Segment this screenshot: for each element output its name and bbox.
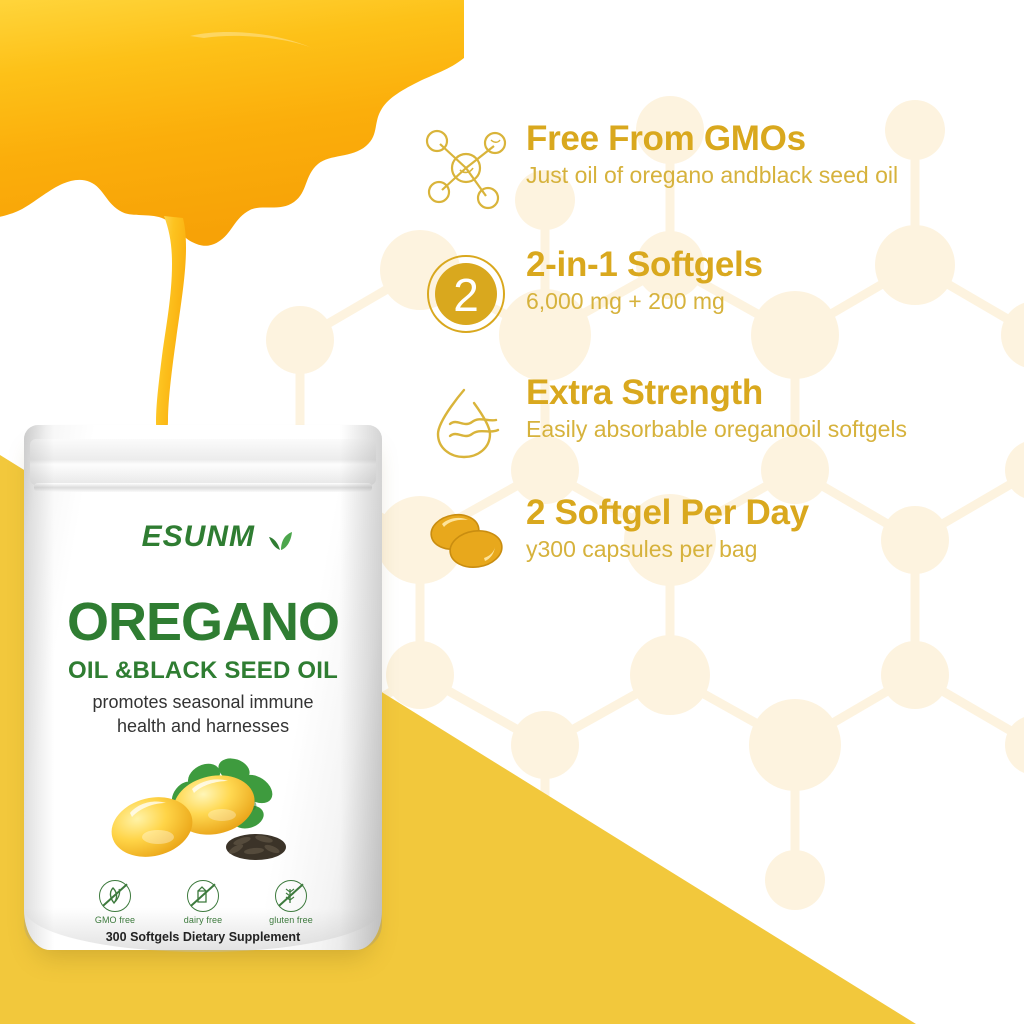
feature-heading: Extra Strength	[526, 374, 1018, 412]
badge-label: GMO free	[84, 915, 146, 925]
number-two-circle-icon: 2	[424, 252, 508, 336]
wheat-no-icon	[275, 880, 307, 912]
description-line-2: health and harnesses	[24, 715, 382, 739]
feature-text: Extra Strength Easily absorbable oregano…	[526, 374, 1018, 443]
product-footer-text: 300 Softgels Dietary Supplement	[24, 930, 382, 944]
feature-item-2-softgel-per-day: 2 Softgel Per Day y300 capsules per bag	[418, 494, 1018, 612]
molecule-icon	[424, 126, 508, 210]
feature-text: 2-in-1 Softgels 6,000 mg + 200 mg	[526, 246, 1018, 315]
product-subtitle: OIL &BLACK SEED OIL	[24, 657, 382, 685]
product-description: promotes seasonal immune health and harn…	[24, 691, 382, 739]
feature-heading: 2-in-1 Softgels	[526, 246, 1018, 284]
feature-subtext: 6,000 mg + 200 mg	[526, 287, 1018, 315]
feature-item-free-from-gmos: Free From GMOs Just oil of oregano andbl…	[418, 120, 1018, 238]
two-softgels-icon	[424, 500, 508, 584]
brand-name: ESUNM	[142, 520, 255, 553]
pouch-zipper	[34, 483, 372, 492]
feature-heading: 2 Softgel Per Day	[526, 494, 1018, 532]
feature-subtext: y300 capsules per bag	[526, 535, 1018, 563]
badge-label: dairy free	[172, 915, 234, 925]
feature-list: Free From GMOs Just oil of oregano andbl…	[418, 120, 1018, 612]
badge-gmo-free: GMO free	[84, 880, 146, 925]
feature-text: 2 Softgel Per Day y300 capsules per bag	[526, 494, 1018, 563]
feature-subtext: Easily absorbable oreganooil softgels	[526, 415, 1018, 443]
feature-item-2-in-1-softgels: 2 2-in-1 Softgels 6,000 mg + 200 mg	[418, 246, 1018, 364]
pouch-right-shading	[340, 425, 382, 950]
badge-dairy-free: dairy free	[172, 880, 234, 925]
product-ad-canvas: ESUNM OREGANO OIL &BLACK SEED OIL promot…	[0, 0, 1024, 1024]
leaf-no-icon	[99, 880, 131, 912]
pouch-left-shading	[24, 425, 54, 950]
product-pouch: ESUNM OREGANO OIL &BLACK SEED OIL promot…	[24, 425, 382, 950]
milk-carton-no-icon	[187, 880, 219, 912]
feature-item-extra-strength: Extra Strength Easily absorbable oregano…	[418, 374, 1018, 492]
svg-text:2: 2	[453, 269, 479, 321]
badge-label: gluten free	[260, 915, 322, 925]
product-title: OREGANO	[24, 595, 382, 649]
badge-gluten-free: gluten free	[260, 880, 322, 925]
description-line-1: promotes seasonal immune	[24, 691, 382, 715]
water-drop-icon	[424, 380, 508, 464]
pouch-top-seal	[30, 439, 376, 485]
softgel-herb-illustration	[96, 755, 311, 875]
certification-badges: GMO free dairy free	[24, 880, 382, 925]
brand-logo: ESUNM	[24, 520, 382, 554]
feature-subtext: Just oil of oregano andblack seed oil	[526, 161, 1018, 189]
feature-heading: Free From GMOs	[526, 120, 1018, 158]
feature-text: Free From GMOs Just oil of oregano andbl…	[526, 120, 1018, 189]
